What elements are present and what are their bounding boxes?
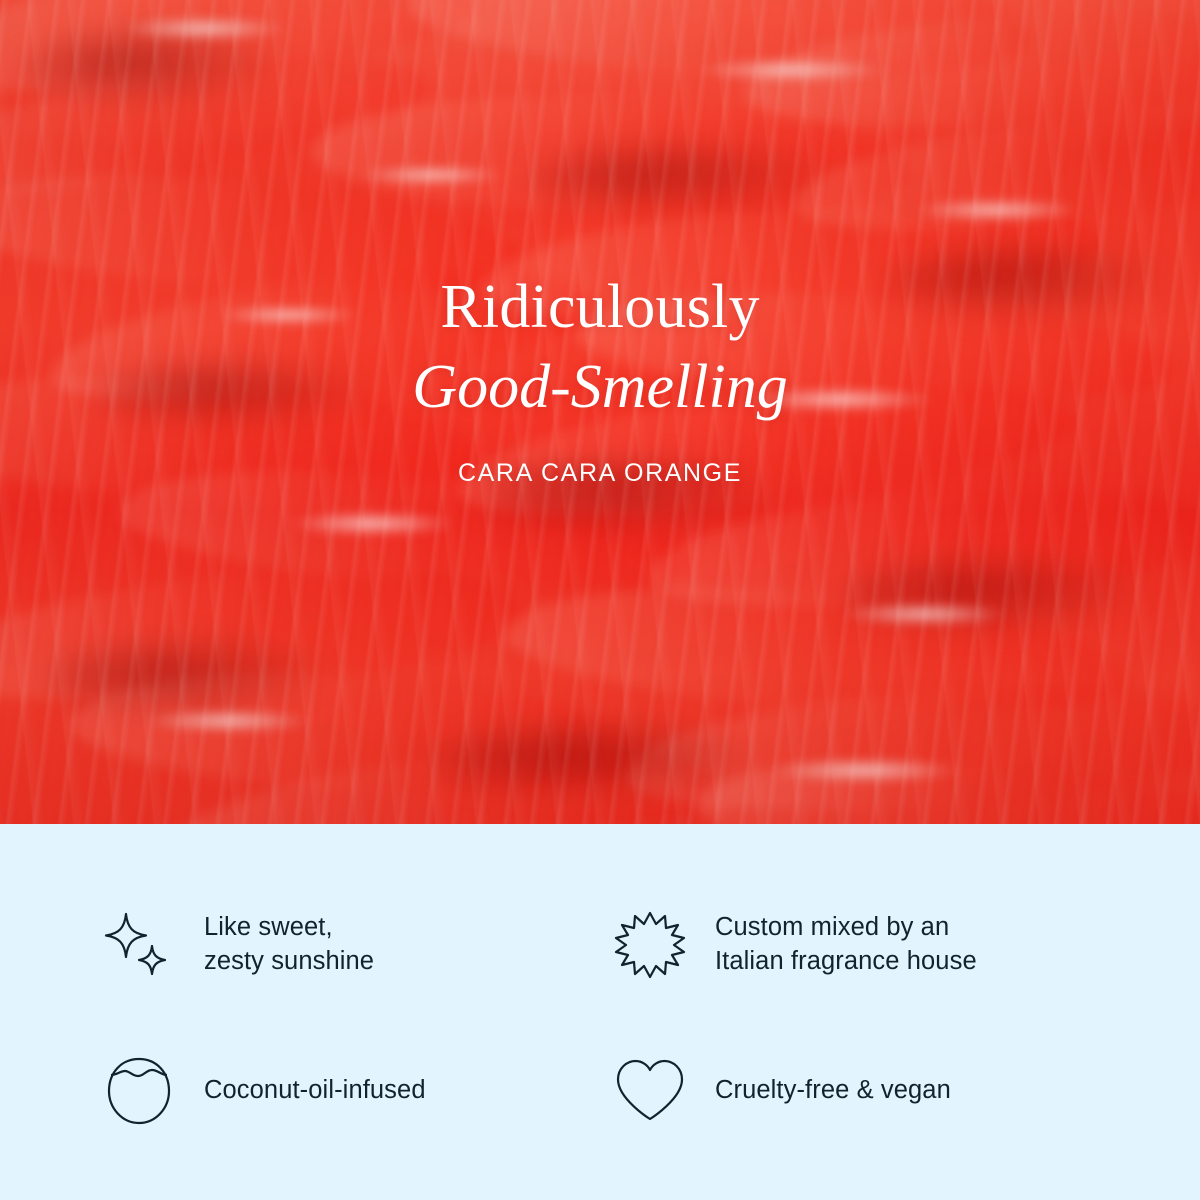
feature-text-line-1: Cruelty-free & vegan [715, 1076, 951, 1104]
feature-text: Coconut-oil-infused [204, 1074, 426, 1108]
feature-text: Custom mixed by an Italian fragrance hou… [715, 911, 977, 978]
hero-text-block: Ridiculously Good-Smelling CARA CARA ORA… [0, 276, 1200, 488]
feature-text-line-2: zesty sunshine [204, 945, 374, 979]
feature-text-line-1: Like sweet, [204, 913, 333, 941]
scent-name-label: CARA CARA ORANGE [0, 459, 1200, 488]
hero-image-section: Ridiculously Good-Smelling CARA CARA ORA… [0, 0, 1200, 824]
feature-text-line-1: Coconut-oil-infused [204, 1076, 426, 1104]
coconut-icon [96, 1048, 182, 1134]
heart-icon [607, 1048, 693, 1134]
sparkle-icon [96, 902, 182, 988]
feature-item-fragrance-house: Custom mixed by an Italian fragrance hou… [607, 902, 1104, 988]
feature-list-section: Like sweet, zesty sunshine Custom mixed … [0, 824, 1200, 1200]
headline-line-1: Ridiculously [0, 276, 1200, 339]
feature-item-scent: Like sweet, zesty sunshine [96, 902, 593, 988]
feature-text: Cruelty-free & vegan [715, 1074, 951, 1108]
feature-item-coconut-oil: Coconut-oil-infused [96, 1048, 593, 1134]
feature-text-line-2: Italian fragrance house [715, 945, 977, 979]
feature-text-line-1: Custom mixed by an [715, 913, 949, 941]
feature-grid: Like sweet, zesty sunshine Custom mixed … [96, 902, 1104, 1134]
headline-line-2: Good-Smelling [0, 353, 1200, 422]
product-feature-card: Ridiculously Good-Smelling CARA CARA ORA… [0, 0, 1200, 1200]
starburst-icon [607, 902, 693, 988]
feature-text: Like sweet, zesty sunshine [204, 911, 374, 978]
feature-item-cruelty-free: Cruelty-free & vegan [607, 1048, 1104, 1134]
